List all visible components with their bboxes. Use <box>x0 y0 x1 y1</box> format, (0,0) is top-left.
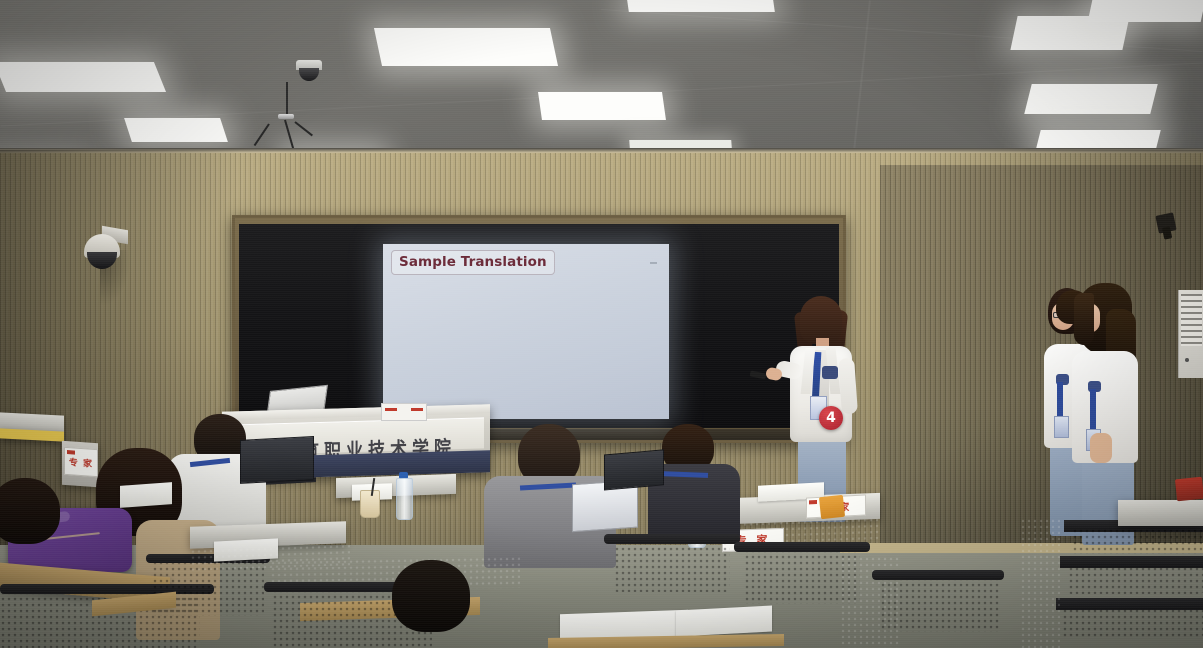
audience-member <box>382 560 492 648</box>
person-head <box>0 478 60 544</box>
ceiling-light <box>374 28 558 66</box>
ptz-camera-icon <box>84 226 126 272</box>
ceiling-light <box>124 118 228 142</box>
water-bottle <box>396 472 411 518</box>
wall-mount-bracket-icon <box>1155 212 1176 233</box>
desk-row <box>1118 500 1203 526</box>
ac-louvers <box>1181 294 1202 346</box>
podium-cards <box>381 403 427 421</box>
paper-sheet <box>120 482 172 508</box>
seat[interactable] <box>1068 566 1203 594</box>
camera-dome <box>87 252 117 269</box>
seat[interactable] <box>1062 608 1203 638</box>
classroom-scene: Sample Translation 四川建筑职业技术学院 4 <box>0 0 1203 648</box>
nameplate-mark-icon <box>67 450 75 455</box>
ceiling-mount <box>278 114 294 119</box>
ceiling-light <box>1088 0 1203 22</box>
ceiling-light <box>627 0 775 12</box>
laptop-screen <box>604 449 664 490</box>
orange-package <box>819 495 845 519</box>
ceiling-light <box>1024 84 1157 114</box>
projection-screen[interactable]: Sample Translation <box>383 244 669 419</box>
seat-rail <box>604 534 740 544</box>
camera-dome <box>299 68 319 81</box>
bottle-body <box>396 478 413 520</box>
contestant-number-badge: 4 <box>819 406 843 430</box>
seat-rail <box>734 542 870 552</box>
seat[interactable] <box>1072 528 1203 554</box>
laptop[interactable] <box>240 436 312 482</box>
slide-bullet-mark-icon <box>650 262 657 264</box>
seat[interactable] <box>880 576 1000 632</box>
seat[interactable] <box>614 540 730 592</box>
presenter-badge-clip <box>822 366 838 379</box>
desk-side-panel <box>1020 518 1060 648</box>
ceiling-light <box>0 62 166 92</box>
ceiling-rod <box>286 82 288 116</box>
seat-rail <box>872 570 1004 580</box>
person-hands <box>1090 433 1112 463</box>
ac-indicator-light <box>1185 358 1189 362</box>
person-hair <box>1074 293 1094 345</box>
ceiling-light <box>538 92 666 120</box>
laptop[interactable] <box>604 449 662 488</box>
lanyard <box>1090 389 1096 433</box>
person-head <box>392 560 470 632</box>
laptop-screen <box>240 436 314 484</box>
red-object <box>1175 477 1203 502</box>
presenter-hair <box>800 296 842 344</box>
slide-title: Sample Translation <box>391 250 555 275</box>
ceiling-dome-camera-icon <box>296 60 322 82</box>
air-conditioner-unit <box>1178 290 1203 378</box>
presenter-arm-right <box>838 358 858 415</box>
nameplate-mark-icon <box>809 500 817 504</box>
paper-stack <box>676 605 772 636</box>
